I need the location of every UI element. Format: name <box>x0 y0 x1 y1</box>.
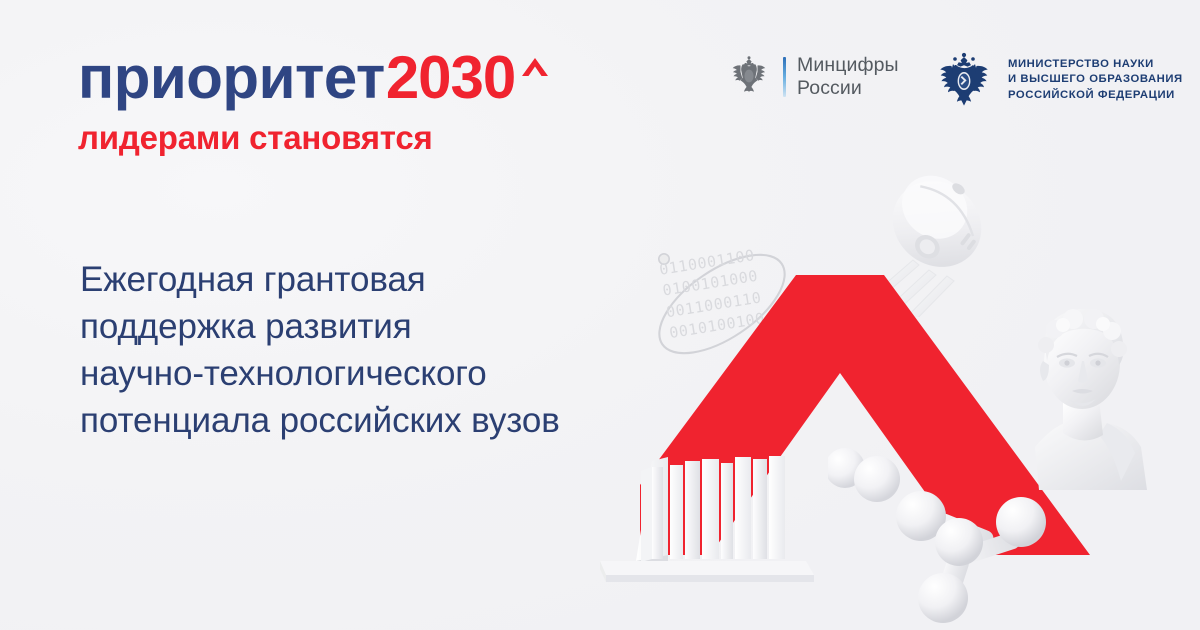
ministry-digital-logo[interactable]: Минцифры России <box>727 54 899 99</box>
ministry-science-logo[interactable]: МИНИСТЕРСТВО НАУКИ И ВЫСШЕГО ОБРАЗОВАНИЯ… <box>933 52 1183 108</box>
poster-canvas: 0110001100 0100101000 0011000110 0010100… <box>0 0 1200 630</box>
brand-tagline: лидерами становятся <box>78 121 638 154</box>
brand-wordmark: приоритет 2030 <box>78 48 638 108</box>
headline-line: поддержка развития <box>80 304 700 351</box>
headline-text: Ежегодная грантовая поддержка развития н… <box>80 257 700 445</box>
david-bust-icon <box>995 295 1175 490</box>
brand-name-primary: приоритет <box>78 48 385 108</box>
molecule-icon-main <box>895 480 1080 630</box>
brand-logo[interactable]: приоритет 2030 лидерами становятся <box>78 48 638 154</box>
headline-line: Ежегодная грантовая <box>80 257 700 304</box>
russian-eagle-icon <box>727 56 771 98</box>
brand-year: 2030 <box>386 48 515 108</box>
logo-divider <box>783 57 786 97</box>
molecule-icon <box>828 442 918 537</box>
red-lambda-shape <box>640 275 1110 560</box>
russian-eagle-icon <box>933 52 995 108</box>
bookshelf-icon <box>592 443 827 593</box>
headline-line: научно-технологического <box>80 351 700 398</box>
satellite-icon <box>795 152 1010 317</box>
ministry-science-text: МИНИСТЕРСТВО НАУКИ И ВЫСШЕГО ОБРАЗОВАНИЯ… <box>1008 57 1183 104</box>
chevron-up-icon <box>520 56 550 82</box>
headline-line: потенциала российских вузов <box>80 398 700 445</box>
ministry-digital-text: Минцифры России <box>797 54 899 99</box>
